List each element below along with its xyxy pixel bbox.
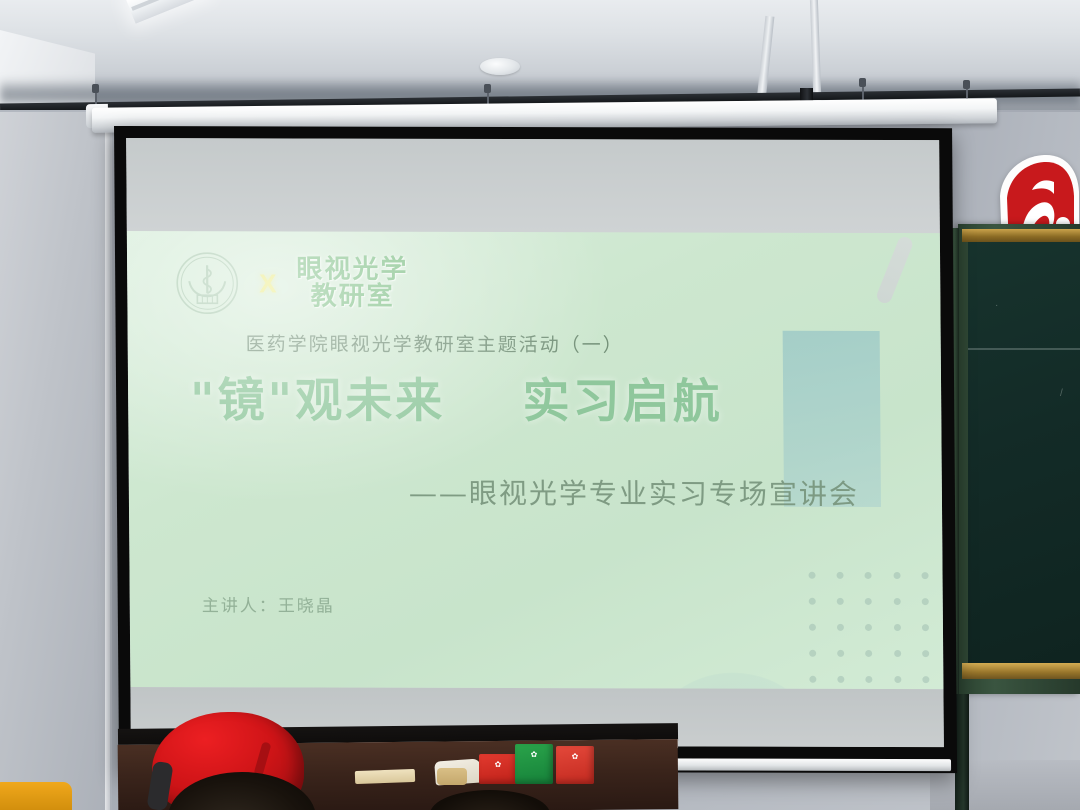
x-separator-icon: X <box>259 270 277 296</box>
blackboard-chalk-line <box>968 348 1080 350</box>
slide-header: X 眼视光学 教研室 <box>175 251 409 316</box>
blackboard-surface <box>968 242 1080 663</box>
red-box-right: ✿ <box>556 746 594 784</box>
blackboard-chalk-tray <box>962 663 1080 679</box>
slash-decoration <box>875 235 915 305</box>
red-box-left: ✿ <box>479 754 517 784</box>
ceiling-hook-2 <box>484 84 491 93</box>
presentation-slide: X 眼视光学 教研室 医药学院眼视光学教研室主题活动（一） "镜"观未来 实习启… <box>127 231 944 689</box>
department-name: 眼视光学 教研室 <box>296 257 408 310</box>
smoke-detector-icon <box>480 58 520 75</box>
slide-main-title: "镜"观未来 实习启航 <box>190 361 723 431</box>
blackboard-chalk-mark-2: / <box>1060 388 1063 399</box>
slide-subtitle-top: 医药学院眼视光学教研室主题活动（一） <box>246 329 624 357</box>
left-wall-corner-edge <box>105 112 110 810</box>
left-wall-panel <box>0 112 112 810</box>
paper-sheet <box>355 769 415 784</box>
department-line-2: 教研室 <box>311 284 395 311</box>
box-logo-mark-1: ✿ <box>479 761 517 769</box>
orange-chair-back <box>0 782 72 810</box>
blackboard-chalk-mark-1: · <box>995 300 998 311</box>
classroom-scene: · / <box>0 0 1080 810</box>
green-box: ✿ <box>515 744 553 784</box>
ceiling-hook-4 <box>859 78 866 87</box>
dot-grid-decoration <box>797 563 943 689</box>
projector-screen[interactable]: X 眼视光学 教研室 医药学院眼视光学教研室主题活动（一） "镜"观未来 实习启… <box>114 126 957 773</box>
box-logo-mark-2: ✿ <box>515 751 553 759</box>
projector-screen-surface: X 眼视光学 教研室 医药学院眼视光学教研室主题活动（一） "镜"观未来 实习启… <box>126 138 944 747</box>
slide-subtitle-bottom: ——眼视光学专业实习专场宣讲会 <box>409 472 859 513</box>
ceiling-hook-3 <box>963 80 970 89</box>
box-logo-mark-3: ✿ <box>556 753 594 761</box>
medical-college-emblem-icon <box>175 251 240 315</box>
slide-speaker-credit: 主讲人：王晓晶 <box>202 591 335 616</box>
blackboard-top-trim <box>962 229 1080 242</box>
cloth-bag-inner <box>437 768 467 785</box>
department-line-1: 眼视光学 <box>296 257 408 284</box>
projection-letterbox-top <box>126 138 940 233</box>
blackboard-support-leg <box>955 694 969 810</box>
ceiling-hook-1 <box>92 84 99 93</box>
